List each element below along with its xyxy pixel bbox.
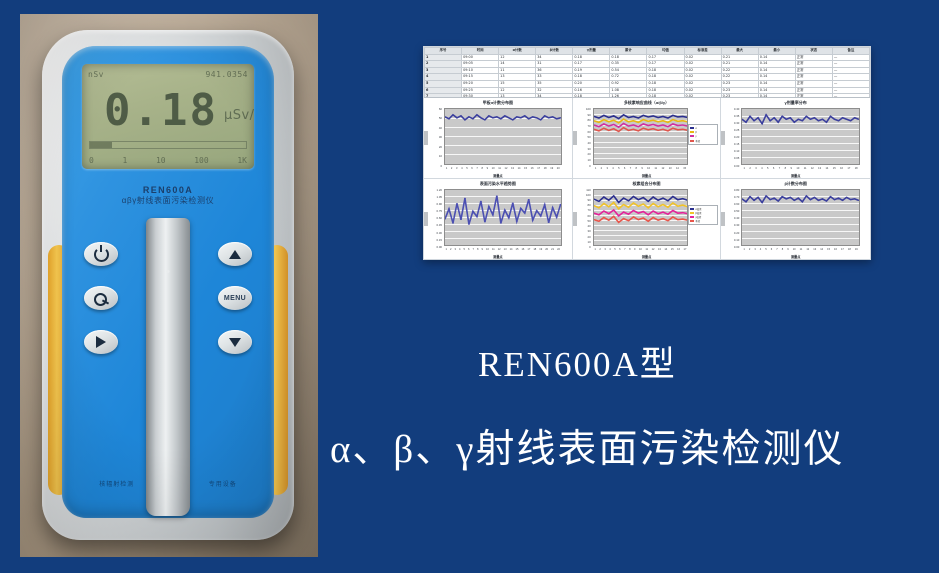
x-tick: 4 (612, 167, 613, 172)
y-tick: 30 (588, 230, 591, 233)
chart-title: 多核素响应曲线（α/β/γ） (576, 100, 718, 106)
table-cell: 36 (536, 67, 573, 74)
x-tick: 1 (594, 248, 595, 253)
y-tick: 30 (588, 148, 591, 151)
product-photo: nSv 941.0354 0.18 μSv/h 0 1 10 100 1K (20, 14, 318, 557)
y-tick: 70 (588, 125, 591, 128)
x-tick: 15 (827, 248, 830, 253)
table-cell: 0.02 (684, 61, 721, 68)
x-axis-title: 测量点 (721, 173, 870, 178)
table-column-header: 最大 (721, 48, 758, 55)
x-tick: 13 (669, 167, 672, 172)
x-tick: 4 (760, 248, 761, 253)
legend-entry: 本底 (690, 139, 716, 143)
x-tick: 2 (451, 167, 452, 172)
y-axis-labels: 0.400.350.300.250.200.150.100.050.00 (723, 108, 740, 165)
play-button[interactable] (84, 330, 118, 354)
y-tick: 40 (588, 225, 591, 228)
x-tick: 6 (468, 248, 469, 253)
legend-swatch (690, 135, 694, 137)
x-tick: 8 (785, 167, 786, 172)
x-tick: 11 (498, 167, 501, 172)
x-tick: 9 (487, 167, 488, 172)
chart-alpha-count: 甲板α计数分布图60504030201001234567891011121314… (424, 98, 573, 179)
table-column-header: γ剂量 (573, 48, 610, 55)
table-cell: 0.18 (647, 67, 684, 74)
spreadsheet-area: 序号时间α计数β计数γ剂量累计均值标准差最大最小状态备注 109:0012340… (424, 47, 870, 98)
series-lines (445, 190, 561, 246)
x-tick: 20 (557, 167, 560, 172)
x-tick: 6 (624, 167, 625, 172)
x-tick: 7 (776, 248, 777, 253)
x-tick: 13 (813, 248, 816, 253)
x-tick: 16 (531, 167, 534, 172)
chart-title: β计数分布图 (724, 181, 867, 187)
faceplate-footer-right: 专用设备 (209, 479, 237, 488)
y-tick: 0.75 (437, 210, 442, 213)
headline-line-1: REN600A型 (478, 336, 918, 387)
plot-area (593, 108, 689, 165)
table-cell: 0.35 (610, 61, 647, 68)
y-axis-title (424, 131, 428, 145)
lcd-status-row: nSv 941.0354 (88, 68, 248, 81)
table-column-header: 最小 (758, 48, 795, 55)
table-cell: 0.14 (758, 74, 795, 81)
magnifier-icon (94, 293, 108, 304)
table-cell: 0.18 (573, 74, 610, 81)
table-cell: 0.18 (647, 74, 684, 81)
legend-swatch (690, 220, 694, 222)
x-tick: 14 (820, 248, 823, 253)
table-header-row: 序号时间α计数β计数γ剂量累计均值标准差最大最小状态备注 (425, 48, 870, 55)
table-cell: 0.23 (721, 80, 758, 87)
table-cell: 0.22 (721, 67, 758, 74)
table-cell: 0.92 (610, 80, 647, 87)
table-cell: 1.08 (610, 87, 647, 94)
x-axis-title: 测量点 (424, 173, 572, 178)
y-axis-labels: 0.800.700.600.500.400.300.200.100.00 (723, 189, 740, 247)
x-tick: 3 (755, 167, 756, 172)
x-tick: 12 (811, 167, 814, 172)
y-axis-title (721, 131, 725, 145)
x-tick: 9 (634, 248, 635, 253)
x-tick: 13 (818, 167, 821, 172)
table-cell: 0.02 (684, 80, 721, 87)
device-model-label: REN600A (62, 184, 274, 196)
y-tick: 1.20 (437, 189, 442, 192)
y-tick: 90 (588, 114, 591, 117)
x-tick: 8 (629, 248, 630, 253)
x-tick: 20 (545, 248, 548, 253)
detector-device: nSv 941.0354 0.18 μSv/h 0 1 10 100 1K (42, 30, 294, 540)
x-tick: 7 (630, 167, 631, 172)
series-lines (594, 190, 688, 246)
plot-area (444, 108, 562, 165)
x-tick: 21 (551, 248, 554, 253)
table-column-header: 序号 (425, 48, 462, 55)
legend-label: β (695, 131, 696, 134)
power-button[interactable] (84, 242, 118, 266)
y-tick: 80 (588, 119, 591, 122)
y-tick: 0.10 (734, 239, 739, 242)
lcd-unit: μSv/h (224, 108, 254, 123)
y-tick: 100 (586, 108, 591, 111)
x-tick: 15 (516, 248, 519, 253)
table-row: 209:0514310.170.350.170.020.210.14正常— (425, 61, 870, 68)
chart-legend: αβγ本底 (688, 124, 718, 145)
lcd-tick: 1K (237, 156, 247, 165)
x-tick: 16 (521, 248, 524, 253)
x-tick: 2 (749, 167, 750, 172)
x-tick: 11 (645, 248, 648, 253)
table-cell: 0.18 (610, 54, 647, 61)
x-tick: 17 (684, 248, 687, 253)
x-tick: 1 (595, 167, 596, 172)
table-row: 509:2015350.200.920.180.020.230.14正常— (425, 80, 870, 87)
lcd-reading: 0.18 (104, 89, 218, 133)
table-cell: 0.14 (758, 54, 795, 61)
legend-swatch (690, 212, 694, 214)
y-tick: 10 (588, 159, 591, 162)
x-tick: 18 (855, 167, 858, 172)
x-tick: 10 (486, 248, 489, 253)
x-tick: 11 (654, 167, 657, 172)
table-cell: 35 (536, 80, 573, 87)
power-icon (94, 247, 109, 262)
y-tick: 0.15 (437, 239, 442, 242)
chart-title: γ剂量率分布 (724, 100, 867, 106)
table-cell: 0.23 (721, 87, 758, 94)
x-tick: 4 (461, 167, 462, 172)
search-button[interactable] (84, 286, 118, 310)
x-tick: 5 (618, 167, 619, 172)
x-tick: 9 (787, 248, 788, 253)
strap-rivet (167, 270, 170, 273)
x-tick: 18 (533, 248, 536, 253)
x-axis-labels: 12345678910111213141516171819202122 (444, 248, 562, 253)
x-tick: 11 (492, 248, 495, 253)
table-cell: 13 (499, 74, 536, 81)
y-tick: 0.00 (437, 246, 442, 249)
x-tick: 3 (456, 167, 457, 172)
plot-area (593, 189, 689, 247)
device-desc-label: αβγ射线表面污染检测仪 (62, 196, 274, 207)
y-tick: 50 (588, 136, 591, 139)
table-cell: — (832, 87, 869, 94)
y-tick: 70 (588, 209, 591, 212)
x-tick: 12 (806, 248, 809, 253)
table-body: 109:0012340.180.180.170.020.210.14正常—209… (425, 54, 870, 98)
legend-entry: 本底 (690, 219, 716, 223)
x-tick: 2 (601, 167, 602, 172)
x-tick: 16 (677, 248, 680, 253)
x-tick: 1 (446, 167, 447, 172)
table-cell: — (832, 67, 869, 74)
x-tick: 3 (754, 248, 755, 253)
x-tick: 4 (761, 167, 762, 172)
y-tick: 0.70 (734, 196, 739, 199)
x-tick: 17 (841, 248, 844, 253)
y-tick: 60 (439, 108, 442, 111)
table-cell: 0.18 (647, 80, 684, 87)
y-axis-title (424, 212, 428, 226)
table-cell: 0.14 (758, 61, 795, 68)
table-cell: 32 (536, 87, 573, 94)
x-tick: 10 (492, 167, 495, 172)
table-column-header: 备注 (832, 48, 869, 55)
x-tick: 3 (455, 248, 456, 253)
x-tick: 1 (743, 248, 744, 253)
x-tick: 4 (459, 248, 460, 253)
y-tick: 20 (439, 146, 442, 149)
x-tick: 8 (636, 167, 637, 172)
menu-button[interactable]: MENU (218, 286, 252, 310)
y-tick: 60 (588, 215, 591, 218)
x-tick: 2 (599, 248, 600, 253)
x-tick: 7 (779, 167, 780, 172)
table-cell: 0.02 (684, 87, 721, 94)
x-tick: 9 (482, 248, 483, 253)
table-cell: 0.18 (647, 87, 684, 94)
x-tick: 5 (464, 248, 465, 253)
legend-swatch (690, 127, 694, 129)
table-cell: 0.14 (758, 80, 795, 87)
x-tick: 6 (773, 167, 774, 172)
software-screenshot-panel: 序号时间α计数β计数γ剂量累计均值标准差最大最小状态备注 109:0012340… (423, 46, 871, 260)
x-tick: 14 (664, 248, 667, 253)
table-cell: 3 (425, 67, 462, 74)
x-tick: 2 (749, 248, 750, 253)
table-row: 409:1513330.180.720.180.020.220.14正常— (425, 74, 870, 81)
x-tick: 15 (671, 248, 674, 253)
y-tick: 0.30 (734, 224, 739, 227)
chart-legend: α核素β核素γ核素本底 (688, 205, 718, 226)
x-tick: 14 (518, 167, 521, 172)
y-axis-labels: 1.201.050.900.750.600.450.300.150.00 (426, 189, 443, 247)
x-axis-title: 测量点 (721, 254, 870, 259)
x-tick: 8 (782, 248, 783, 253)
x-tick: 19 (550, 167, 553, 172)
menu-button-label: MENU (224, 295, 246, 302)
x-tick: 3 (604, 248, 605, 253)
table-cell: 正常 (795, 54, 832, 61)
table-cell: 0.02 (684, 74, 721, 81)
table-cell: 15 (499, 80, 536, 87)
faceplate-footer-left: 核辐射检测 (99, 479, 134, 488)
x-tick: 7 (476, 167, 477, 172)
y-tick: 0.20 (734, 136, 739, 139)
x-tick: 9 (791, 167, 792, 172)
chart-title: 核素组合分布图 (576, 181, 718, 187)
y-tick: 40 (439, 127, 442, 130)
chart-multi-nuclide: 多核素响应曲线（α/β/γ）1009080706050403020100αβγ本… (573, 98, 722, 179)
table-cell: 12 (499, 87, 536, 94)
x-tick: 5 (614, 248, 615, 253)
x-tick: 17 (537, 167, 540, 172)
chart-title: 甲板α计数分布图 (427, 100, 569, 106)
triangle-down-icon (229, 338, 241, 347)
table-cell: 0.54 (610, 67, 647, 74)
x-tick: 22 (557, 248, 560, 253)
x-tick: 10 (796, 167, 799, 172)
x-tick: 17 (847, 167, 850, 172)
y-axis-title (573, 131, 577, 145)
table-cell: 14 (499, 61, 536, 68)
x-axis-labels: 12345678910111213141516171819 (741, 248, 860, 253)
lcd-mode-tag: nSv (88, 70, 104, 79)
y-tick: 80 (588, 204, 591, 207)
slide-canvas: nSv 941.0354 0.18 μSv/h 0 1 10 100 1K (0, 0, 939, 573)
y-tick: 50 (439, 117, 442, 120)
table-cell: 31 (536, 61, 573, 68)
y-axis-labels: 6050403020100 (426, 108, 443, 165)
y-axis-title (721, 212, 725, 226)
y-tick: 0.60 (437, 217, 442, 220)
legend-swatch (690, 140, 694, 142)
table-cell: 正常 (795, 87, 832, 94)
y-tick: 0.80 (734, 189, 739, 192)
legend-swatch (690, 208, 694, 210)
table-column-header: 时间 (462, 48, 499, 55)
lcd-bargraph (89, 141, 247, 149)
x-tick: 2 (450, 248, 451, 253)
x-tick: 4 (609, 248, 610, 253)
down-button[interactable] (218, 330, 252, 354)
triangle-up-icon (229, 250, 241, 259)
x-tick: 5 (767, 167, 768, 172)
table-cell: 12 (499, 54, 536, 61)
x-tick: 14 (510, 248, 513, 253)
x-tick: 18 (848, 248, 851, 253)
y-tick: 1.05 (437, 196, 442, 199)
table-cell: 0.17 (573, 61, 610, 68)
x-tick: 5 (765, 248, 766, 253)
x-tick: 14 (676, 167, 679, 172)
x-tick: 13 (511, 167, 514, 172)
y-tick: 0.30 (437, 232, 442, 235)
table-cell: 正常 (795, 67, 832, 74)
y-tick: 0.00 (734, 246, 739, 249)
table-cell: 6 (425, 87, 462, 94)
up-button[interactable] (218, 242, 252, 266)
y-tick: 0.00 (734, 165, 739, 168)
table-column-header: 均值 (647, 48, 684, 55)
table-cell: — (832, 74, 869, 81)
y-tick: 0.30 (734, 122, 739, 125)
y-tick: 0.15 (734, 143, 739, 146)
table-cell: 正常 (795, 80, 832, 87)
y-tick: 10 (588, 241, 591, 244)
table-cell: 09:15 (462, 74, 499, 81)
table-cell: — (832, 54, 869, 61)
chart-beta-count: β计数分布图0.800.700.600.500.400.300.200.100.… (721, 179, 870, 260)
x-tick: 10 (647, 167, 650, 172)
table-cell: 09:25 (462, 87, 499, 94)
y-tick: 0.45 (437, 224, 442, 227)
y-tick: 50 (588, 220, 591, 223)
y-tick: 0 (589, 165, 591, 168)
table-cell: 5 (425, 80, 462, 87)
table-row: 309:1011360.190.540.180.020.220.14正常— (425, 67, 870, 74)
y-tick: 10 (439, 155, 442, 158)
table-cell: 09:05 (462, 61, 499, 68)
table-cell: 11 (499, 67, 536, 74)
table-cell: 0.20 (573, 80, 610, 87)
x-tick: 6 (619, 248, 620, 253)
x-tick: 16 (840, 167, 843, 172)
table-cell: 0.02 (684, 67, 721, 74)
series-lines (742, 190, 859, 246)
table-cell: 0.16 (573, 87, 610, 94)
y-tick: 0.35 (734, 115, 739, 118)
table-cell: 正常 (795, 61, 832, 68)
table-column-header: 状态 (795, 48, 832, 55)
hand-strap (146, 218, 190, 516)
x-tick: 10 (793, 248, 796, 253)
legend-swatch (690, 216, 694, 218)
x-axis-labels: 1234567891011121314151617 (593, 248, 689, 253)
table-cell: 09:10 (462, 67, 499, 74)
y-tick: 0.10 (734, 150, 739, 153)
table-cell: 0.21 (721, 54, 758, 61)
y-tick: 100 (586, 194, 591, 197)
legend-label: α (695, 127, 696, 130)
x-tick: 17 (527, 248, 530, 253)
y-tick: 0 (589, 246, 591, 249)
chart-title: 表面污染水平趋势图 (427, 181, 569, 187)
table-cell: 0.72 (610, 74, 647, 81)
x-tick: 13 (504, 248, 507, 253)
table-cell: 1 (425, 54, 462, 61)
x-tick: 8 (481, 167, 482, 172)
x-tick: 11 (804, 167, 807, 172)
lcd-tick: 100 (194, 156, 208, 165)
table-row: 609:2512320.161.080.180.020.230.14正常— (425, 87, 870, 94)
table-cell: 0.17 (647, 54, 684, 61)
legend-label: γ (695, 135, 696, 138)
y-tick: 0.05 (734, 157, 739, 160)
table-cell: 0.14 (758, 67, 795, 74)
legend-label: 本底 (695, 139, 700, 143)
chart-nuclide-stack: 核素组合分布图1101009080706050403020100α核素β核素γ核… (573, 179, 722, 260)
table-cell: 0.18 (573, 54, 610, 61)
x-tick: 7 (624, 248, 625, 253)
y-tick: 20 (588, 153, 591, 156)
x-tick: 5 (466, 167, 467, 172)
headline-line-2: α、β、γ射线表面污染检测仪 (330, 418, 935, 474)
chart-gamma-dose: γ剂量率分布0.400.350.300.250.200.150.100.050.… (721, 98, 870, 179)
play-icon (96, 336, 106, 348)
x-tick: 1 (744, 167, 745, 172)
table-cell: 0.19 (573, 67, 610, 74)
x-axis-labels: 123456789101112131415161718 (741, 167, 860, 172)
table-cell: 0.02 (684, 54, 721, 61)
legend-swatch (690, 131, 694, 133)
lcd-tick: 1 (122, 156, 127, 165)
table-cell: 33 (536, 74, 573, 81)
y-tick: 0.50 (734, 210, 739, 213)
y-axis-title (573, 212, 577, 226)
x-tick: 14 (825, 167, 828, 172)
table-column-header: β计数 (536, 48, 573, 55)
x-tick: 15 (833, 167, 836, 172)
data-table: 序号时间α计数β计数γ剂量累计均值标准差最大最小状态备注 109:0012340… (424, 47, 870, 98)
table-row: 109:0012340.180.180.170.020.210.14正常— (425, 54, 870, 61)
x-axis-title: 测量点 (573, 254, 721, 259)
table-cell: 0.22 (721, 74, 758, 81)
chart-grid: 甲板α计数分布图60504030201001234567891011121314… (424, 98, 870, 259)
y-tick: 0.40 (734, 108, 739, 111)
